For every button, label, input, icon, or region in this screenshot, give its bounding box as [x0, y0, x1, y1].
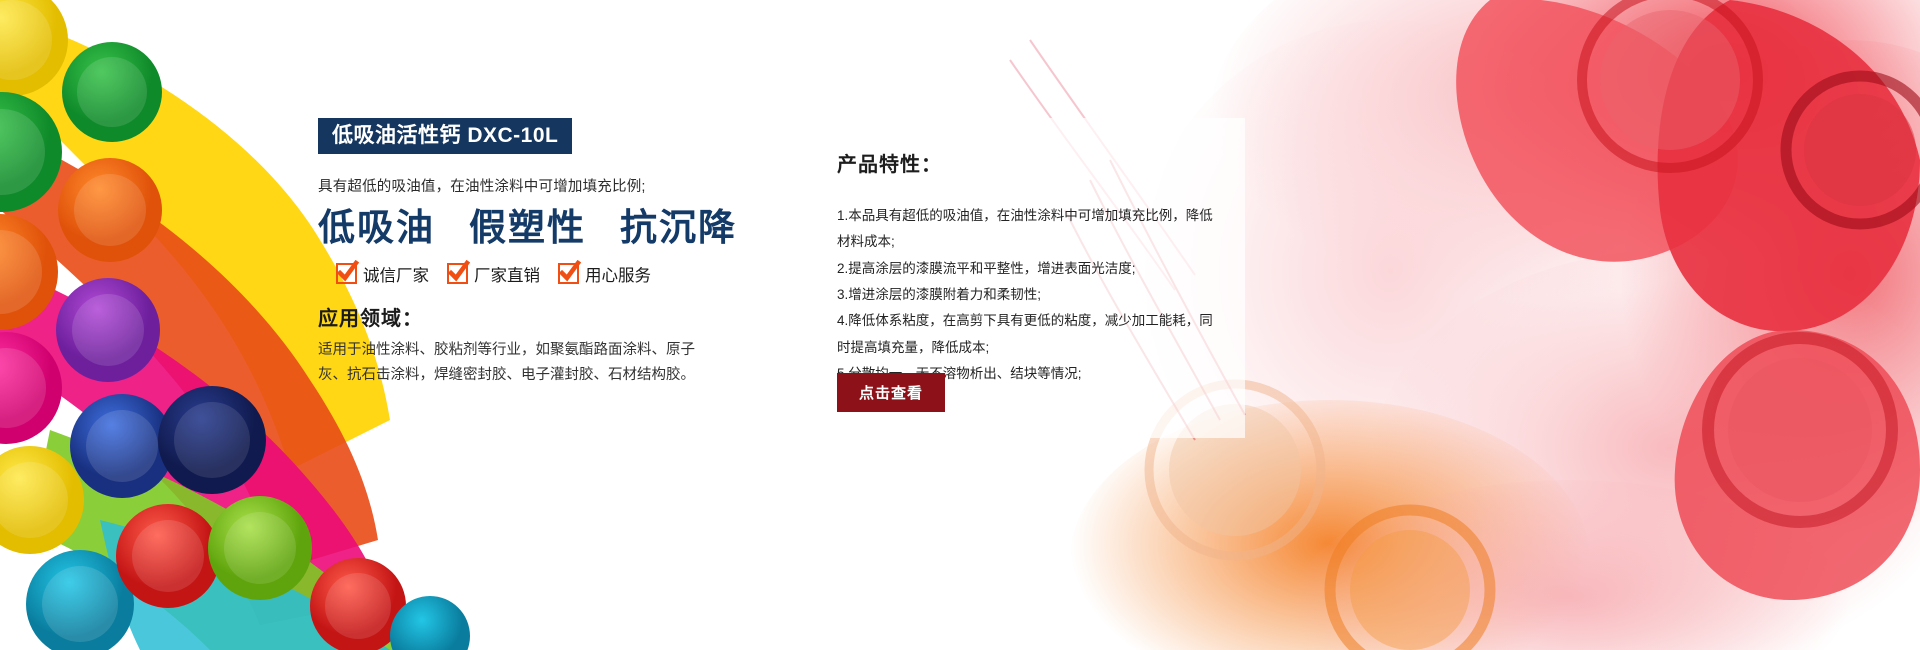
- product-title-band: 低吸油活性钙 DXC-10L: [318, 118, 572, 154]
- trust-badge-2: 厂家直销: [447, 262, 540, 286]
- trust-badge-3: 用心服务: [558, 262, 651, 286]
- check-icon: [447, 263, 468, 284]
- headline-word-1: 低吸油: [318, 209, 435, 248]
- headline-word-3: 抗沉降: [620, 209, 737, 248]
- features-heading: 产品特性：: [837, 148, 1217, 177]
- feature-item-4: 4.降低体系粘度，在高剪下具有更低的粘度，减少加工能耗，同时提高填充量，降低成本…: [837, 308, 1217, 361]
- trust-badge-label-1: 诚信厂家: [363, 262, 429, 286]
- headline-word-2: 假塑性: [469, 209, 586, 248]
- features-list: 1.本品具有超低的吸油值，在油性涂料中可增加填充比例，降低材料成本; 2.提高涂…: [837, 203, 1217, 387]
- feature-item-3: 3.增进涂层的漆膜附着力和柔韧性;: [837, 282, 1217, 308]
- banner-stage: 低吸油活性钙 DXC-10L 具有超低的吸油值，在油性涂料中可增加填充比例; 低…: [0, 0, 1920, 650]
- product-features-panel: 产品特性： 1.本品具有超低的吸油值，在油性涂料中可增加填充比例，降低材料成本;…: [805, 118, 1245, 438]
- trust-badge-1: 诚信厂家: [336, 262, 429, 286]
- headline-keywords: 低吸油 假塑性 抗沉降: [318, 209, 738, 248]
- left-content-block: 低吸油活性钙 DXC-10L 具有超低的吸油值，在油性涂料中可增加填充比例; 低…: [318, 118, 738, 389]
- feature-item-1: 1.本品具有超低的吸油值，在油性涂料中可增加填充比例，降低材料成本;: [837, 203, 1217, 256]
- view-details-button[interactable]: 点击查看: [837, 373, 945, 412]
- application-description: 适用于油性涂料、胶粘剂等行业，如聚氨酯路面涂料、原子灰、抗石击涂料，焊缝密封胶、…: [318, 338, 718, 389]
- trust-badge-label-3: 用心服务: [585, 262, 651, 286]
- feature-item-2: 2.提高涂层的漆膜流平和平整性，增进表面光洁度;: [837, 256, 1217, 282]
- product-subtitle: 具有超低的吸油值，在油性涂料中可增加填充比例;: [318, 175, 738, 196]
- application-heading: 应用领域：: [318, 302, 738, 331]
- check-icon: [558, 263, 579, 284]
- check-icon: [336, 263, 357, 284]
- trust-badges: 诚信厂家 厂家直销 用心服务: [318, 262, 738, 286]
- trust-badge-label-2: 厂家直销: [474, 262, 540, 286]
